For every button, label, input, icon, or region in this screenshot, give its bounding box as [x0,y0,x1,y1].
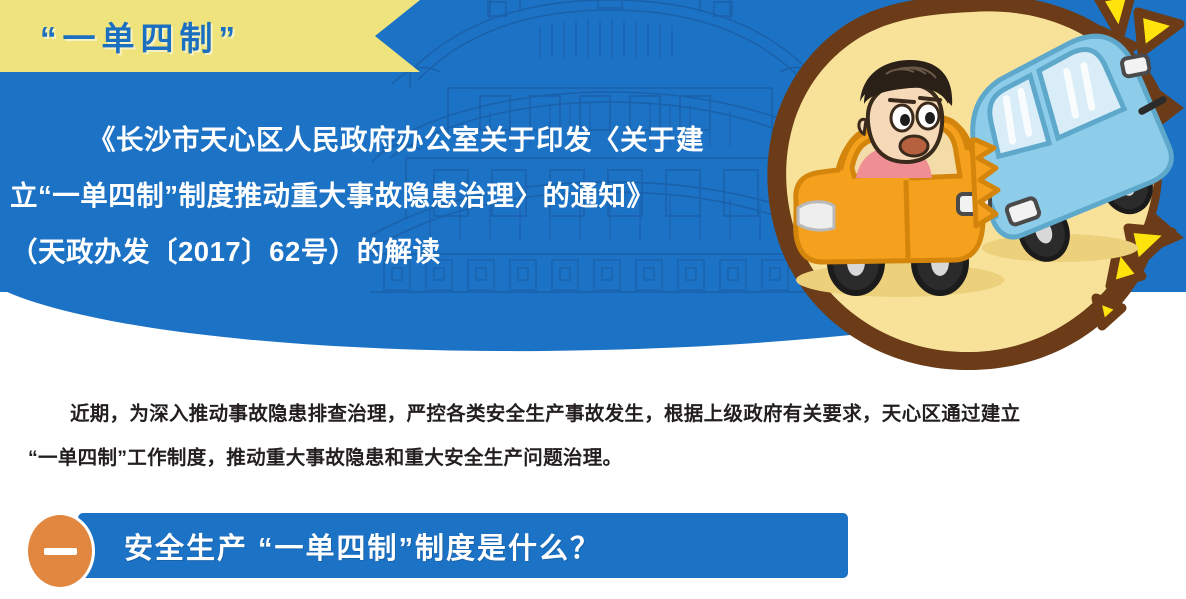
section-header-title: 安全生产 “一单四制”制度是什么？ [124,525,601,567]
page-title-line-2: 立“一单四制”制度推动重大事故隐患治理〉的通知》 [10,168,755,224]
section-header-bar[interactable]: 安全生产 “一单四制”制度是什么？ [78,513,848,578]
page-title: 《长沙市天心区人民政府办公室关于印发〈关于建 立“一单四制”制度推动重大事故隐患… [10,112,755,280]
page-title-line-3: （天政办发〔2017〕62号）的解读 [10,224,755,280]
intro-line-1: 近期，为深入推动事故隐患排查治理，严控各类安全生产事故发生，根据上级政府有关要求… [28,392,1148,436]
section-number-glyph-icon [44,548,77,555]
car-crash-illustration [760,0,1186,380]
header-banner: “一单四制” 《长沙市天心区人民政府办公室关于印发〈关于建 立“一单四制”制度推… [0,0,1186,400]
ribbon-title: “一单四制” [40,12,241,60]
page-title-line-1: 《长沙市天心区人民政府办公室关于印发〈关于建 [10,112,755,168]
intro-line-2: “一单四制”工作制度，推动重大事故隐患和重大安全生产问题治理。 [28,436,1148,480]
ribbon-banner: “一单四制” [0,0,420,72]
infographic-page: “一单四制” 《长沙市天心区人民政府办公室关于印发〈关于建 立“一单四制”制度推… [0,0,1186,599]
intro-paragraph: 近期，为深入推动事故隐患排查治理，严控各类安全生产事故发生，根据上级政府有关要求… [28,392,1148,480]
section-number-badge [25,512,95,590]
